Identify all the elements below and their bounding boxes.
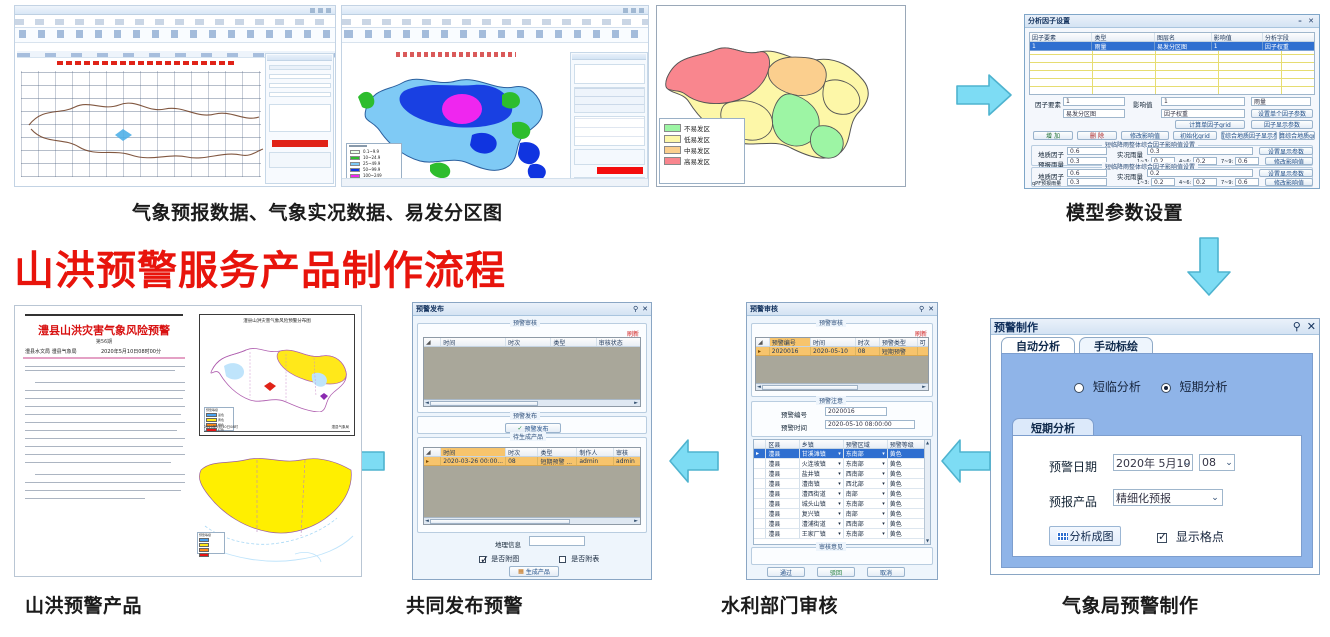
col-marker (754, 440, 766, 448)
horizontal-scrollbar[interactable]: ◄ ► (756, 383, 928, 390)
panel-title: 预警审核 (750, 304, 778, 314)
grid-header-row: 区县 乡镇 预警区域 预警等级 (754, 440, 930, 449)
subtab-label: 短期分析 (1031, 420, 1075, 436)
col-type: 类型 (538, 448, 577, 456)
col-author: 制作人 (577, 448, 614, 456)
input-tier2-2[interactable]: 0.2 (1193, 178, 1217, 186)
radio-short-term[interactable] (1161, 383, 1171, 393)
label-geo-factor-1: 地质因子 (1038, 149, 1064, 159)
cell-county: 澧县 (766, 499, 799, 508)
group-label: 预警审核 (510, 318, 540, 327)
button-reject[interactable]: 驳回 (817, 567, 855, 577)
map-canvas: 0.1~9.9 10~24.9 25~49.9 50~99.9 100~249 … (342, 51, 648, 186)
button-generate-product[interactable]: ▦ 生成产品 (509, 566, 559, 577)
panel-flood-warning-product[interactable]: 澧县山洪灾害气象风险预警 第56期 澧县水文局 澧县气象局 2020年5月10日… (14, 305, 362, 577)
label-warning-id: 预警编号 (781, 409, 807, 419)
button-label: 生成产品 (526, 567, 550, 576)
pin-icon[interactable]: ⚲ (1293, 320, 1301, 333)
col-township: 乡镇 (800, 440, 844, 448)
label-tier2-2: 4~6: (1179, 180, 1191, 186)
toolbar (15, 28, 335, 43)
input-geo-factor-2[interactable]: 0.6 (1067, 169, 1107, 177)
button-add[interactable]: 增 加 (1033, 131, 1073, 140)
chevron-down-icon[interactable]: ▾ (882, 481, 887, 487)
short-term-form: 预警日期 2020年 5月10日 ⌄ 08 ⌄ 预报产品 精细化预报 ⌄ 分析成… (1012, 435, 1302, 557)
label-forecast-product: 预报产品 (1049, 493, 1097, 510)
chevron-down-icon[interactable]: ▾ (882, 491, 887, 497)
table-row[interactable]: 1 雨量 易发分区图 1 因子权重 (1030, 42, 1314, 51)
legend-item: 不易发区 (664, 123, 740, 133)
table-header-row: ◢ 时间 时次 类型 制作人 审核 (424, 448, 640, 457)
group-label: 审核意见 (816, 542, 846, 551)
map-legend-2: 预警等级 (197, 532, 225, 554)
horizontal-scrollbar[interactable]: ◄ ► (424, 517, 640, 524)
table-header-row: ◢ 时间 时次 类型 审核状态 (424, 338, 640, 347)
cell-county: 澧县 (766, 469, 799, 478)
table-row[interactable]: 澧县复兴镇▾南部▾黄色▾ (754, 509, 930, 519)
caption-cma-make: 气象局预警制作 (1062, 591, 1199, 618)
row-marker: ▸ (754, 449, 766, 458)
cell-hour: 08 (856, 347, 880, 355)
col-factor: 因子要素 (1030, 33, 1092, 41)
cell-county: 澧县 (766, 479, 799, 488)
row-marker (754, 489, 766, 498)
row-marker (754, 509, 766, 518)
chevron-down-icon[interactable]: ▾ (882, 461, 887, 467)
chevron-down-icon[interactable]: ▾ (838, 501, 843, 507)
legend-label: 低易发区 (684, 134, 710, 144)
button-analyze-and-plot[interactable]: 分析成图 (1049, 526, 1121, 546)
table-row[interactable]: 澧县盐井镇▾西南部▾黄色▾ (754, 469, 930, 479)
review-table[interactable]: ◢ 预警编号 时间 时次 预警类型 可 ▸ 2020016 2020-05-10… (755, 337, 929, 391)
cell-reviewer: admin (614, 457, 640, 465)
row-marker: ▸ (424, 457, 441, 465)
input-observed-rain-1[interactable]: 0.3 (1147, 147, 1253, 155)
col-warning-id: 预警编号 (770, 338, 811, 346)
cell-type: 雨量 (1092, 42, 1154, 50)
legend-label: 高易发区 (684, 156, 710, 166)
cell-township: 澧浦街道▾ (800, 519, 844, 528)
input-tier3-1[interactable]: 0.6 (1235, 157, 1259, 165)
panel-warning-publish[interactable]: 预警发布 ⚲ ✕ 预警审核 刷新 ◢ 时间 时次 类型 审核状态 ◄ ► 预警发… (412, 302, 652, 580)
close-icon[interactable]: ✕ (642, 305, 648, 313)
close-icon[interactable]: ✕ (928, 305, 934, 313)
checkbox-attach-map[interactable] (479, 556, 486, 563)
cell-warning-type: 短期预警 (880, 347, 918, 355)
cell-type: 短期预警 ... (538, 457, 577, 465)
col-sortmark: ◢ (756, 338, 770, 346)
col-field: 分析字段 (1263, 33, 1314, 41)
col-layer: 图层名 (1155, 33, 1212, 41)
analysis-mode-radios[interactable]: 短临分析 短期分析 (1074, 378, 1228, 395)
warning-document: 澧县山洪灾害气象风险预警 第56期 澧县水文局 澧县气象局 2020年5月10日… (17, 308, 191, 574)
pin-icon[interactable]: ⚲ (633, 305, 638, 313)
caption-model-params: 模型参数设置 (1066, 198, 1183, 225)
doc-meta-left: 澧县水文局 澧县气象局 (25, 348, 77, 355)
township-grid[interactable]: 区县 乡镇 预警区域 预警等级 ▸澧县甘溪滩镇▾东南部▾黄色▾澧县火连坡镇▾东南… (753, 439, 931, 545)
label-tier3-1: 7~9: (1221, 159, 1233, 165)
titlebar (15, 6, 335, 15)
chevron-down-icon[interactable]: ▾ (838, 461, 843, 467)
legend-swatch (664, 135, 681, 143)
checkbox-label: 显示格点 (1176, 530, 1224, 544)
cell-warn-area: 南部▾ (844, 509, 888, 518)
col-hour: 时次 (506, 448, 538, 456)
col-sortmark: ◢ (424, 338, 441, 346)
col-reviewer: 审核 (614, 448, 640, 456)
legend-item: 高易发区 (664, 156, 740, 166)
cell-township: 澧西街道▾ (800, 489, 844, 498)
col-time: 时间 (811, 338, 856, 346)
table-header-row: 因子要素 类型 图层名 影响值 分析字段 (1030, 33, 1314, 42)
table-row[interactable]: 澧县火连坡镇▾东南部▾黄色▾ (754, 459, 930, 469)
panel-title: 预警制作 (994, 319, 1038, 335)
cell-more (918, 347, 928, 355)
doc-body (25, 366, 183, 568)
products-table[interactable]: ◢ 时间 时次 类型 制作人 审核 ▸ 2020-03-26 00:00... … (423, 447, 641, 525)
caption-inputs: 气象预报数据、气象实况数据、易发分区图 (132, 198, 503, 225)
table-row[interactable]: 澧县城头山镇▾东南部▾黄色▾ (754, 499, 930, 509)
cell-warn-area: 东南部▾ (844, 499, 888, 508)
legend-swatch (664, 157, 681, 165)
button-set-display-params-2[interactable]: 设置显示参数 (1259, 169, 1313, 177)
row-marker (754, 519, 766, 528)
col-time: 时间 (441, 448, 506, 456)
cell-township: 澧南镇▾ (800, 479, 844, 488)
chevron-down-icon[interactable]: ▾ (838, 511, 843, 517)
page-title: 山洪预警服务产品制作流程 (14, 238, 506, 296)
tabstrip[interactable]: 自动分析 手动标绘 (1001, 337, 1313, 354)
table-row[interactable]: ▸澧县甘溪滩镇▾东南部▾黄色▾ (754, 449, 930, 459)
cell-hour: 08 (506, 457, 538, 465)
window-controls[interactable]: – ✕ (1298, 17, 1316, 25)
select-layer[interactable]: 易发分区图 (1063, 109, 1125, 118)
legend-swatch (664, 124, 681, 132)
cell-warning-id: 2020016 (770, 347, 811, 355)
group-label: 预警注意 (816, 396, 846, 405)
row-marker (754, 469, 766, 478)
dialog-titlebar: 分析因子设置 – ✕ (1025, 15, 1319, 28)
col-time: 时间 (441, 338, 506, 346)
map-credit: 澧县气象局 (332, 425, 350, 430)
button-approve[interactable]: 通过 (767, 567, 805, 577)
grid-icon (1057, 532, 1068, 541)
menu-ribbon (342, 15, 648, 28)
cell-time: 2020-03-26 00:00... (441, 457, 506, 465)
screenshot-observed-data[interactable]: 0.1~9.9 10~24.9 25~49.9 50~99.9 100~249 … (341, 5, 649, 187)
cell-field: 因子权重 (1263, 42, 1314, 50)
button-init-grid[interactable]: 初始化grid (1173, 131, 1217, 140)
warning-area-map: 预警等级 (195, 440, 359, 574)
input-observed-rain-2[interactable]: 0.2 (1147, 169, 1253, 177)
input-tier1-2[interactable]: 0.2 (1151, 178, 1175, 186)
checkbox-label: 是否附表 (571, 555, 599, 563)
cell-county: 澧县 (766, 529, 799, 538)
label-factor: 因子要素 (1035, 99, 1061, 109)
table-row[interactable]: 澧县澧南镇▾西北部▾黄色▾ (754, 479, 930, 489)
label-qpf-rain-2: qPF预报雨量 (1032, 180, 1061, 187)
map-scale: 2020年5月10日08时 (204, 425, 238, 430)
legend-label: 中易发区 (684, 145, 710, 155)
checkbox-attach-table[interactable] (559, 556, 566, 563)
cell-warn-area: 东南部▾ (844, 529, 888, 538)
row-marker (754, 479, 766, 488)
table-row[interactable]: ▸ 2020016 2020-05-10 08 短期预警 (756, 347, 928, 356)
checkbox-label: 是否附图 (491, 555, 519, 563)
caption-product: 山洪预警产品 (25, 591, 142, 618)
chevron-down-icon[interactable]: ▾ (882, 451, 887, 457)
select-type[interactable]: 雨量 (1251, 97, 1311, 106)
group-review-comment: 审核意见 (751, 547, 933, 565)
cell-township: 复兴镇▾ (800, 509, 844, 518)
cell-township: 王家厂镇▾ (800, 529, 844, 538)
label-observed-rain-1: 实况雨量 (1117, 149, 1143, 159)
dialog-analysis-factor-settings[interactable]: 分析因子设置 – ✕ 因子要素 类型 图层名 影响值 分析字段 1 雨量 易发分… (1024, 14, 1320, 189)
screenshot-forecast-data[interactable] (14, 5, 336, 187)
cell-county: 澧县 (766, 519, 799, 528)
cell-time: 2020-05-10 (811, 347, 856, 355)
button-cancel[interactable]: 取消 (867, 567, 905, 577)
cell-impact: 1 (1212, 42, 1263, 50)
input-forecast-rain-1[interactable]: 0.3 (1067, 157, 1107, 165)
tab-manual-plot[interactable]: 手动标绘 (1079, 337, 1153, 354)
chevron-down-icon[interactable]: ▾ (882, 501, 887, 507)
select-forecast-product[interactable]: 精细化预报 (1113, 489, 1223, 506)
button-modify-impact[interactable]: 修改影响值 (1121, 131, 1169, 140)
doc-subtitle: 第56期 (17, 338, 191, 345)
map-canvas (15, 51, 335, 186)
row-marker (754, 499, 766, 508)
chevron-down-icon[interactable]: ▾ (838, 451, 843, 457)
input-qpf-rain-2[interactable]: 0.3 (1067, 178, 1107, 186)
panel-titlebar: 预警审核 ⚲ ✕ (747, 303, 937, 316)
col-more: 可 (918, 338, 928, 346)
radio-short-nowcast[interactable] (1074, 383, 1084, 393)
factor-table[interactable]: 因子要素 类型 图层名 影响值 分析字段 1 雨量 易发分区图 1 因子权重 (1029, 32, 1315, 95)
panel-titlebar: 预警发布 ⚲ ✕ (413, 303, 651, 316)
col-type: 类型 (551, 338, 596, 346)
subtab-short-term[interactable]: 短期分析 (1012, 418, 1094, 436)
panel-warning-production[interactable]: 预警制作 ⚲ ✕ 自动分析 手动标绘 短临分析 短期分析 短期分析 预警日期 2… (990, 318, 1320, 575)
row-marker: ▸ (756, 347, 770, 355)
chevron-down-icon[interactable]: ▾ (838, 521, 843, 527)
table-header-row: ◢ 预警编号 时间 时次 预警类型 可 (756, 338, 928, 347)
tab-auto-analysis[interactable]: 自动分析 (1001, 337, 1075, 354)
input-impact[interactable]: 1 (1161, 97, 1245, 106)
col-hour: 时次 (506, 338, 551, 346)
susceptibility-legend: 不易发区 低易发区 中易发区 高易发区 (659, 118, 745, 184)
dialog-title: 分析因子设置 (1028, 16, 1070, 26)
cell-author: admin (577, 457, 614, 465)
chevron-down-icon[interactable]: ▾ (838, 471, 843, 477)
warning-distribution-map: 澧县山洪灾害气象风险预警分布图 预警等级 蓝色 黄色 橙色 红 (199, 314, 355, 436)
checkbox-attach-map-wrap[interactable]: 是否附图 (479, 554, 519, 564)
input-tier3-2[interactable]: 0.6 (1235, 178, 1259, 186)
chevron-down-icon[interactable]: ▾ (838, 491, 843, 497)
pin-icon[interactable]: ⚲ (919, 305, 924, 313)
checkbox-show-grid-points[interactable] (1157, 533, 1167, 543)
horizontal-scrollbar[interactable]: ◄ ► (424, 399, 640, 406)
col-warn-area: 预警区域 (844, 440, 888, 448)
cell-factor: 1 (1030, 42, 1092, 50)
cell-county: 澧县 (766, 449, 799, 458)
label-warning-time: 预警时间 (781, 422, 807, 432)
col-review-status: 审核状态 (597, 338, 640, 346)
checkbox-attach-table-wrap[interactable]: 是否附表 (559, 554, 599, 564)
label-warning-date: 预警日期 (1049, 458, 1097, 475)
review-table[interactable]: ◢ 时间 时次 类型 审核状态 ◄ ► (423, 337, 641, 407)
button-calc-composite-grid[interactable]: 计算综合地质grid (1279, 131, 1315, 140)
chevron-down-icon[interactable]: ▾ (838, 481, 843, 487)
label-tier3-2: 7~9: (1221, 180, 1233, 186)
check-icon: ✓ (517, 425, 522, 432)
input-warning-time[interactable]: 2020-05-10 08:00:00 (825, 420, 915, 429)
cell-township: 甘溪滩镇▾ (800, 449, 844, 458)
cell-township: 盐井镇▾ (800, 469, 844, 478)
button-set-display-params-1[interactable]: 设置显示参数 (1259, 147, 1313, 155)
arrow-left-2 (668, 437, 720, 485)
warning-maps: 澧县山洪灾害气象风险预警分布图 预警等级 蓝色 黄色 橙色 红 (195, 308, 359, 574)
label-tier1-2: 1~3: (1137, 180, 1149, 186)
legend-label: 不易发区 (684, 123, 710, 133)
doc-meta-right: 2020年5月10日08时00分 (101, 348, 161, 355)
table-row[interactable]: 澧县澧西街道▾南部▾黄色▾ (754, 489, 930, 499)
legend-item: 低易发区 (664, 134, 740, 144)
toolbar (342, 28, 648, 43)
tab-label: 自动分析 (1016, 338, 1060, 354)
legend-swatch (664, 146, 681, 154)
cell-county: 澧县 (766, 489, 799, 498)
group-label: 预警发布 (510, 411, 540, 420)
table-row[interactable]: 澧县王家厂镇▾东南部▾黄色▾ (754, 529, 930, 539)
tab-label: 手动标绘 (1094, 338, 1138, 354)
arrow-left-1 (940, 437, 992, 485)
close-icon[interactable]: ✕ (1307, 320, 1316, 333)
col-warning-type: 预警类型 (880, 338, 918, 346)
col-sortmark: ◢ (424, 448, 441, 456)
cell-county: 澧县 (766, 459, 799, 468)
warning-hour-chevron[interactable]: ⌄ (1223, 454, 1235, 471)
select-field[interactable]: 因子权重 (1161, 109, 1245, 118)
input-warning-id[interactable]: 2020016 (825, 407, 887, 416)
titlebar (342, 6, 648, 15)
button-set-single-factor-params[interactable]: 设置单个因子参数 (1251, 109, 1313, 118)
panel-warning-review[interactable]: 预警审核 ⚲ ✕ 预警审核 刷新 ◢ 预警编号 时间 时次 预警类型 可 ▸ 2… (746, 302, 938, 580)
cell-warn-area: 东南部▾ (844, 449, 888, 458)
warning-date-chevron[interactable]: ⌄ (1181, 454, 1193, 471)
panel-titlebar: 预警制作 ⚲ ✕ (991, 319, 1319, 335)
label-impact: 影响值 (1133, 99, 1153, 109)
chevron-down-icon[interactable]: ▾ (882, 471, 887, 477)
row-marker (754, 459, 766, 468)
col-type: 类型 (1092, 33, 1154, 41)
input-geo-factor-1[interactable]: 0.6 (1067, 147, 1107, 155)
cell-warn-area: 西北部▾ (844, 479, 888, 488)
caption-water-review: 水利部门审核 (721, 591, 838, 618)
cell-warn-area: 西南部▾ (844, 469, 888, 478)
button-modify-impact-2[interactable]: 修改影响值 (1265, 178, 1313, 186)
button-set-composite-display-params[interactable]: 设置综合地质因子显示参数 (1221, 131, 1277, 140)
row-marker (754, 529, 766, 538)
panel-title: 预警发布 (416, 304, 444, 314)
button-factor-display-params[interactable]: 因子显示参数 (1251, 120, 1313, 129)
table-row[interactable]: ▸ 2020-03-26 00:00... 08 短期预警 ... admin … (424, 457, 640, 466)
cell-warn-area: 南部▾ (844, 489, 888, 498)
table-row[interactable]: 澧县澧浦街道▾西南部▾黄色▾ (754, 519, 930, 529)
chevron-down-icon[interactable]: ▾ (882, 511, 887, 517)
grid-body[interactable]: ▸澧县甘溪滩镇▾东南部▾黄色▾澧县火连坡镇▾东南部▾黄色▾澧县盐井镇▾西南部▾黄… (754, 449, 930, 544)
cell-county: 澧县 (766, 509, 799, 518)
forecast-product-chevron-icon[interactable]: ⌄ (1209, 489, 1221, 506)
col-county: 区县 (766, 440, 799, 448)
map-title: 澧县山洪灾害气象风险预警分布图 (200, 318, 354, 324)
chevron-down-icon[interactable]: ▾ (838, 531, 843, 537)
checkbox-show-grid-points-wrap[interactable]: 显示格点 (1157, 528, 1224, 545)
arrow-down-1 (1185, 236, 1233, 298)
button-delete[interactable]: 删 除 (1077, 131, 1117, 140)
caption-publish: 共同发布预警 (406, 591, 523, 618)
select-geo-info[interactable] (529, 536, 585, 546)
vertical-scrollbar[interactable]: ▲ ▼ (924, 440, 930, 544)
chevron-down-icon[interactable]: ▾ (882, 531, 887, 537)
cell-township: 火连坡镇▾ (800, 459, 844, 468)
col-impact: 影响值 (1212, 33, 1263, 41)
document-icon: ▦ (518, 568, 524, 575)
legend-item: 中易发区 (664, 145, 740, 155)
arrow-right-1 (955, 72, 1013, 118)
label-geo-info: 地理信息 (495, 539, 521, 549)
chevron-down-icon[interactable]: ▾ (882, 521, 887, 527)
table-empty-rows (1030, 51, 1314, 94)
input-factor[interactable]: 1 (1063, 97, 1125, 106)
cell-layer: 易发分区图 (1155, 42, 1212, 50)
menu-ribbon (15, 15, 335, 28)
cell-warn-area: 西南部▾ (844, 519, 888, 528)
button-modify-impact-1[interactable]: 修改影响值 (1265, 157, 1313, 165)
button-calc-single-factor-grid[interactable]: 计算单因子grid (1175, 120, 1245, 129)
radio-short-nowcast-label: 短临分析 (1093, 380, 1141, 394)
group-label: 预警审核 (816, 318, 846, 327)
doc-title: 澧县山洪灾害气象风险预警 (25, 322, 183, 338)
button-label: 分析成图 (1070, 528, 1114, 544)
radio-short-term-label: 短期分析 (1180, 380, 1228, 394)
screenshot-susceptibility-map[interactable]: 不易发区 低易发区 中易发区 高易发区 (656, 5, 906, 187)
col-hour: 时次 (856, 338, 880, 346)
auto-analysis-body: 短临分析 短期分析 短期分析 预警日期 2020年 5月10日 ⌄ 08 ⌄ 预… (1001, 353, 1313, 568)
cell-warn-area: 东南部▾ (844, 459, 888, 468)
group-label: 待生成产品 (510, 432, 546, 441)
cell-township: 城头山镇▾ (800, 499, 844, 508)
